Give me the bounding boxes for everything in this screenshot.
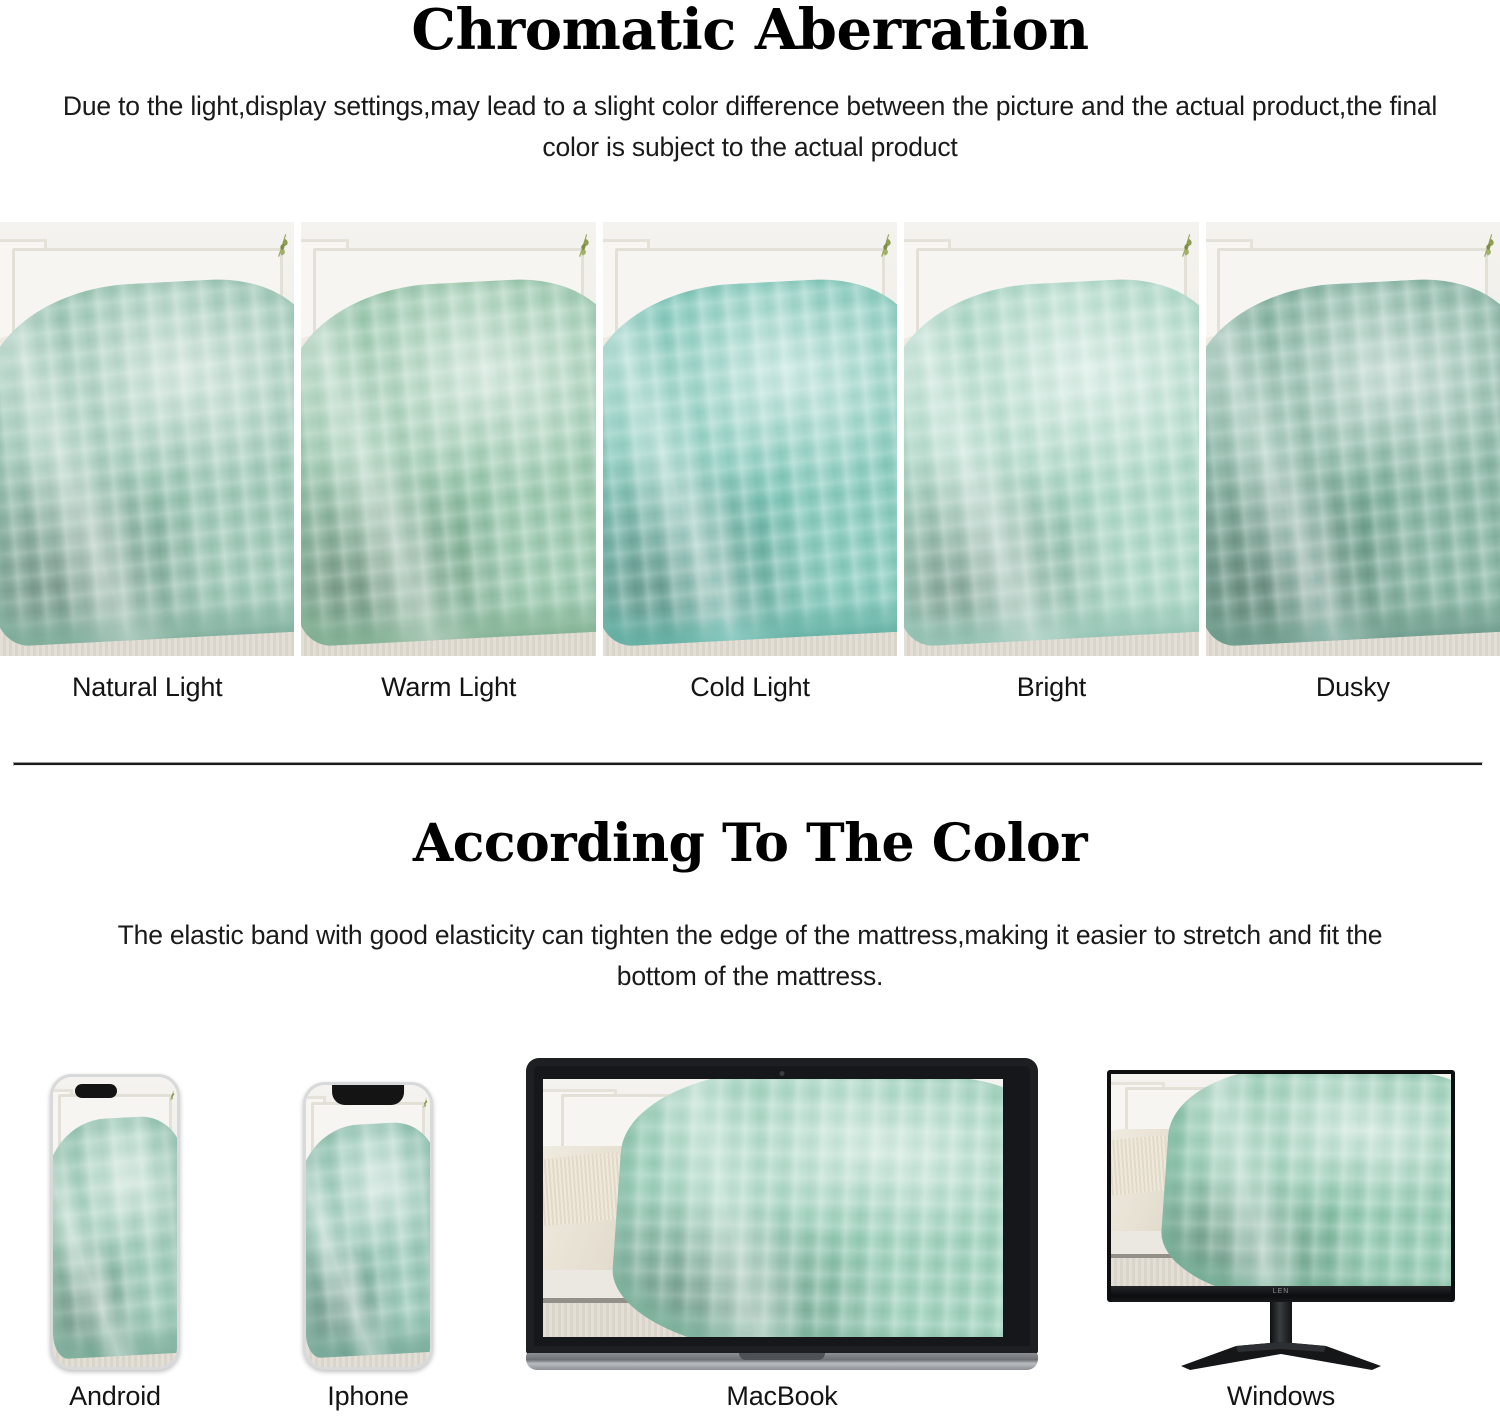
monitor-brand-mark: LEN bbox=[1273, 1288, 1290, 1295]
throw-blanket bbox=[1206, 274, 1500, 647]
section-divider bbox=[13, 762, 1483, 766]
device-mockup-gallery: LEN bbox=[0, 1040, 1500, 1370]
laptop-lid bbox=[526, 1058, 1038, 1354]
subtitle-chromatic-aberration: Due to the light,display settings,may le… bbox=[60, 86, 1440, 168]
throw-blanket bbox=[301, 274, 595, 647]
device-mockup-macbook-laptop[interactable] bbox=[526, 1070, 1038, 1370]
room-scene bbox=[301, 222, 595, 656]
lighting-sample-label: Bright bbox=[904, 672, 1198, 703]
room-scene bbox=[1111, 1074, 1451, 1286]
device-mockup-windows-monitor[interactable]: LEN bbox=[1107, 1070, 1455, 1370]
lighting-sample-label: Natural Light bbox=[0, 672, 294, 703]
phone-screen bbox=[53, 1077, 177, 1367]
page-title-chromatic-aberration: Chromatic Aberration bbox=[0, 0, 1500, 58]
monitor-stand-neck bbox=[1270, 1302, 1292, 1344]
throw-blanket bbox=[306, 1121, 430, 1359]
device-mockup-android-phone[interactable] bbox=[50, 1074, 180, 1370]
monitor-stand-base bbox=[1176, 1342, 1386, 1370]
lighting-sample-label: Dusky bbox=[1206, 672, 1500, 703]
webcam-icon bbox=[780, 1071, 785, 1076]
throw-blanket bbox=[904, 274, 1198, 647]
monitor-chin: LEN bbox=[1111, 1286, 1451, 1302]
room-scene bbox=[1206, 222, 1500, 656]
monitor-body: LEN bbox=[1107, 1070, 1455, 1370]
camera-cutout-icon bbox=[75, 1084, 117, 1098]
monitor-bezel: LEN bbox=[1107, 1070, 1455, 1302]
device-mockup-label: Iphone bbox=[327, 1381, 408, 1412]
device-mockup-iphone[interactable] bbox=[303, 1082, 433, 1370]
phone-body bbox=[303, 1082, 433, 1370]
lighting-sample-photo[interactable] bbox=[1206, 222, 1500, 656]
phone-screen bbox=[306, 1085, 430, 1367]
lighting-sample-photo[interactable] bbox=[0, 222, 294, 656]
throw-blanket bbox=[1157, 1074, 1451, 1286]
laptop-screen bbox=[543, 1079, 1003, 1337]
device-mockup-label: MacBook bbox=[726, 1381, 837, 1412]
lighting-sample-photo[interactable] bbox=[904, 222, 1198, 656]
display-notch-icon bbox=[332, 1085, 404, 1105]
page-title-according-to-the-color: According To The Color bbox=[0, 818, 1500, 870]
room-scene bbox=[0, 222, 294, 656]
room-scene bbox=[306, 1085, 430, 1367]
room-scene bbox=[543, 1079, 1003, 1337]
laptop-lid-notch bbox=[739, 1353, 825, 1360]
device-mockup-label: Windows bbox=[1227, 1381, 1335, 1412]
subtitle-according-to-the-color: The elastic band with good elasticity ca… bbox=[80, 915, 1420, 997]
room-scene bbox=[603, 222, 897, 656]
lighting-sample-label: Warm Light bbox=[301, 672, 595, 703]
lighting-sample-labels: Natural LightWarm LightCold LightBrightD… bbox=[0, 672, 1500, 703]
throw-blanket bbox=[53, 1114, 177, 1359]
monitor-screen bbox=[1111, 1074, 1451, 1286]
device-mockup-label: Android bbox=[69, 1381, 161, 1412]
laptop-base bbox=[526, 1353, 1038, 1370]
throw-blanket bbox=[607, 1079, 1003, 1337]
lighting-sample-gallery bbox=[0, 222, 1500, 656]
phone-body bbox=[50, 1074, 180, 1370]
throw-blanket bbox=[0, 274, 294, 647]
laptop-body bbox=[526, 1058, 1038, 1370]
lighting-sample-photo[interactable] bbox=[301, 222, 595, 656]
room-scene bbox=[904, 222, 1198, 656]
room-scene bbox=[53, 1077, 177, 1367]
lighting-sample-label: Cold Light bbox=[603, 672, 897, 703]
throw-blanket bbox=[603, 274, 897, 647]
device-mockup-labels: AndroidIphoneMacBookWindows bbox=[0, 1381, 1500, 1421]
lighting-sample-photo[interactable] bbox=[603, 222, 897, 656]
